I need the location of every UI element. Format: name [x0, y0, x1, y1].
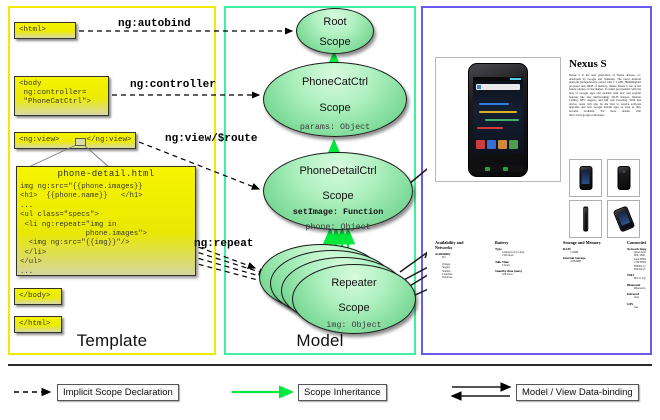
- code-tag-body-close: </body>: [14, 288, 62, 305]
- scope-root: Root Scope: [296, 8, 374, 54]
- diagram-canvas: Template Model View: [0, 0, 660, 420]
- app-dock-icons: [476, 139, 520, 151]
- wallpaper-line-green: [485, 119, 519, 121]
- phone-side-thumb-icon: [583, 207, 589, 232]
- scope-root-title-2: Scope: [297, 29, 373, 49]
- scope-phonedetailctrl-title-2: Scope: [264, 178, 412, 203]
- spec-values-1-1: 6 hours: [495, 264, 553, 267]
- label-ng-repeat: ng:repeat: [194, 238, 253, 250]
- spec-group-3: Connectivity Network Support Quad-band G…: [627, 240, 646, 309]
- phone-front-thumb-icon: [579, 166, 592, 190]
- spec-values-2-0: 512MB: [563, 251, 619, 254]
- scope-phonedetailctrl-prop-phone: phone: Object: [264, 217, 412, 232]
- code-tag-html-close: </html>: [14, 316, 62, 333]
- phone-description: Nexus S is the next generation of Nexus …: [569, 74, 641, 117]
- hero-phone-screen: [473, 77, 523, 153]
- scope-phonecatctrl-title-1: PhoneCatCtrl: [264, 63, 406, 89]
- phone-title: Nexus S: [569, 58, 607, 70]
- spec-values-2-1: 16384MB: [563, 260, 619, 263]
- spec-heading-0: Availability and Networks: [435, 240, 487, 250]
- label-ng-view-route: ng:view/$route: [165, 133, 257, 145]
- thumbnail-1[interactable]: [607, 159, 640, 197]
- spec-values-1-2: 428 hours: [495, 273, 553, 276]
- phone-navigation-bar: [473, 165, 523, 172]
- scope-repeater-prop-img: img: Object: [293, 314, 415, 330]
- spec-values-0-0: M1 Orange,Singtel,StarhubT-Mobile,Vodafo…: [435, 256, 487, 280]
- wallpaper-line-blue: [479, 103, 509, 105]
- scope-repeater-title-1: Repeater: [293, 265, 415, 290]
- spec-heading-2: Storage and Memory: [563, 240, 619, 245]
- legend-item-implicit-scope-declaration: Implicit Scope Declaration: [57, 384, 179, 401]
- column-label-template: Template: [10, 331, 214, 351]
- legend-item-model-view-data-binding: Model / View Data-binding: [516, 384, 639, 401]
- thumbnail-2[interactable]: [569, 200, 602, 238]
- hero-phone-image: [468, 63, 528, 177]
- spec-values-3-1: 802.11 b/g/n: [627, 277, 646, 280]
- scope-phonecatctrl-prop-params: params: Object: [264, 114, 406, 132]
- thumbnail-0[interactable]: [569, 159, 602, 197]
- hero-image-frame: [435, 57, 561, 182]
- view-rendered-page: Nexus S Nexus S is the next generation o…: [427, 12, 646, 349]
- thumbnail-3[interactable]: [607, 200, 640, 238]
- spec-heading-3: Connectivity: [627, 240, 646, 245]
- legend-separator: [8, 364, 652, 366]
- wallpaper-line-amber: [479, 111, 517, 113]
- spec-group-1: Battery Type Lithium Ion (Li-Ion)1500 mA…: [495, 240, 553, 277]
- phone-angle-thumb-icon: [612, 206, 635, 233]
- spec-group-0: Availability and Networks Availability M…: [435, 240, 487, 280]
- legend-item-scope-inheritance: Scope Inheritance: [298, 384, 387, 401]
- scope-root-title-1: Root: [297, 9, 373, 29]
- spec-values-3-3: false: [627, 296, 646, 299]
- phone-back-thumb-icon: [617, 166, 630, 190]
- template-callout-phone-detail: phone-detail.html img ng:src="{{phone.im…: [16, 166, 196, 276]
- spec-group-2: Storage and Memory RAM 512MB Internal St…: [563, 240, 619, 264]
- scope-repeater-title-2: Scope: [293, 290, 415, 315]
- spec-values-1-0: Lithium Ion (Li-Ion)1500 mAh: [495, 251, 553, 258]
- spec-values-3-4: true: [627, 306, 646, 309]
- label-ng-controller: ng:controller: [130, 79, 216, 91]
- scope-phonedetailctrl: PhoneDetailCtrl Scope setImage: Function…: [263, 152, 413, 230]
- status-bar-icon: [473, 77, 523, 81]
- search-widget-icon: [476, 84, 520, 90]
- scope-repeater: Repeater Scope img: Object: [292, 264, 416, 334]
- callout-code: img ng:src="{{phone.images}} <h1> {{phon…: [20, 183, 192, 277]
- label-ng-autobind: ng:autobind: [118, 18, 191, 30]
- wallpaper-line-red: [477, 127, 503, 129]
- column-label-model: Model: [226, 331, 414, 351]
- code-tag-body: <body ng:controller= "PhoneCatCtrl">: [14, 76, 109, 116]
- scope-phonedetailctrl-title-1: PhoneDetailCtrl: [264, 153, 412, 178]
- scope-phonedetailctrl-prop-setimage: setImage: Function: [264, 202, 412, 217]
- ngview-slot-icon: [75, 138, 86, 146]
- code-tag-html: <html>: [14, 22, 76, 39]
- spec-values-3-0: Quad-band GSM: 850,900, 1800, 1900 Tri-b…: [627, 251, 646, 271]
- spec-values-3-2: Bluetooth 2.1: [627, 287, 646, 290]
- spec-heading-1: Battery: [495, 240, 553, 245]
- callout-title: phone-detail.html: [17, 169, 195, 179]
- scope-phonecatctrl: PhoneCatCtrl Scope params: Object: [263, 62, 407, 137]
- scope-phonecatctrl-title-2: Scope: [264, 89, 406, 115]
